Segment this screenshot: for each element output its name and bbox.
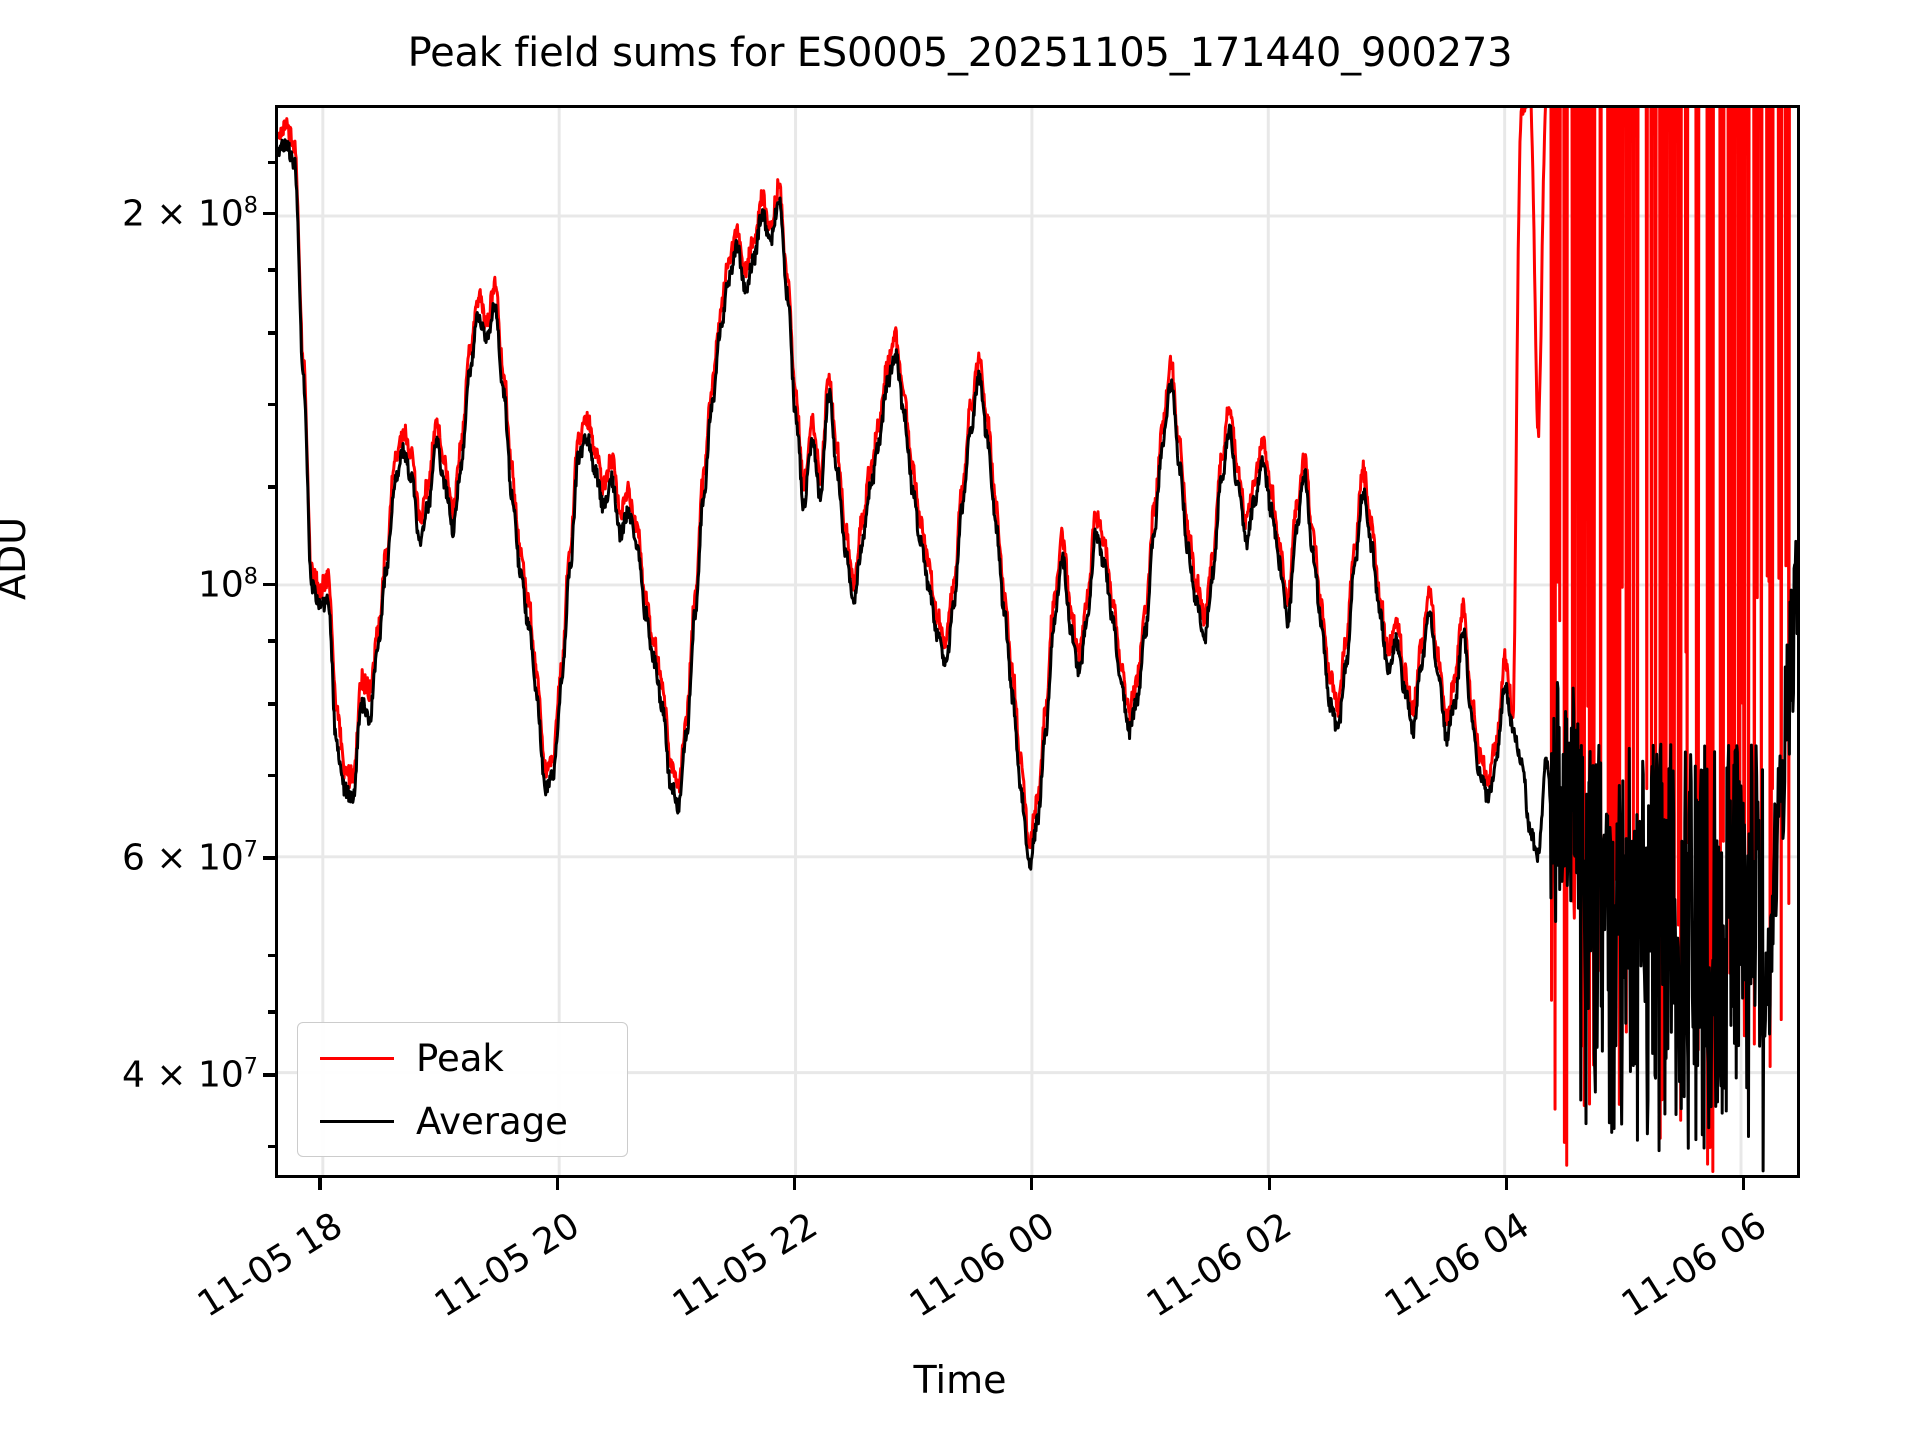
legend-label-peak: Peak xyxy=(416,1037,504,1080)
x-tick-label: 11-05 20 xyxy=(370,1205,587,1362)
series-line-average xyxy=(278,140,1797,1171)
x-tick-mark xyxy=(793,1178,796,1190)
grid-lines xyxy=(278,108,1797,1175)
legend-item-average[interactable]: Average xyxy=(298,1091,627,1151)
legend-swatch-average xyxy=(320,1120,394,1123)
x-tick-label: 11-06 06 xyxy=(1557,1205,1774,1362)
x-tick-label: 11-06 02 xyxy=(1082,1205,1299,1362)
legend-item-peak[interactable]: Peak xyxy=(298,1028,627,1088)
x-tick-mark xyxy=(1268,1178,1271,1190)
x-tick-mark xyxy=(1030,1178,1033,1190)
x-tick-label: 11-05 18 xyxy=(133,1205,350,1362)
x-tick-label: 11-06 00 xyxy=(845,1205,1062,1362)
y-minor-tick-mark xyxy=(268,268,275,271)
legend-label-average: Average xyxy=(416,1100,568,1143)
y-minor-tick-mark xyxy=(268,1145,275,1148)
y-tick-mark xyxy=(263,583,275,586)
legend-swatch-peak xyxy=(320,1057,394,1060)
y-minor-tick-mark xyxy=(268,331,275,334)
x-tick-mark xyxy=(1742,1178,1745,1190)
y-minor-tick-mark xyxy=(268,774,275,777)
x-tick-label: 11-05 22 xyxy=(608,1205,825,1362)
y-minor-tick-mark xyxy=(268,485,275,488)
y-minor-tick-mark xyxy=(268,954,275,957)
y-minor-tick-mark xyxy=(268,403,275,406)
y-minor-tick-mark xyxy=(268,1010,275,1013)
x-tick-mark xyxy=(318,1178,321,1190)
y-tick-mark xyxy=(263,1073,275,1076)
x-tick-label: 11-06 04 xyxy=(1319,1205,1536,1362)
figure-canvas: Peak field sums for ES0005_20251105_1714… xyxy=(0,0,1920,1440)
legend[interactable]: Peak Average xyxy=(297,1022,628,1157)
x-tick-mark xyxy=(556,1178,559,1190)
series-line-peak xyxy=(278,108,1797,1171)
y-minor-tick-mark xyxy=(268,161,275,164)
series-lines xyxy=(278,108,1797,1171)
x-tick-mark xyxy=(1505,1178,1508,1190)
y-minor-tick-mark xyxy=(268,639,275,642)
plot-area xyxy=(275,105,1800,1178)
y-minor-tick-mark xyxy=(268,702,275,705)
y-tick-mark xyxy=(263,212,275,215)
y-tick-mark xyxy=(263,856,275,859)
plot-svg xyxy=(278,108,1797,1175)
